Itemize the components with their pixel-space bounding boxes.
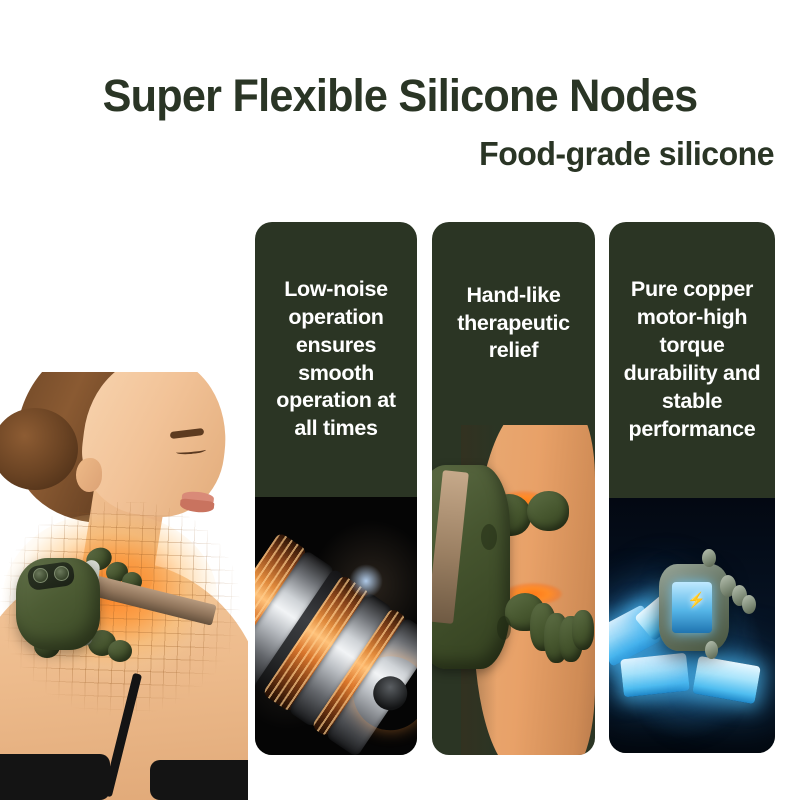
product-feature-graphic: Super Flexible Silicone Nodes Food-grade…	[0, 0, 800, 800]
massager-node-ring-1	[481, 524, 497, 550]
feature-card-pure-copper: Pure copper motor-high torque durability…	[609, 222, 775, 753]
motor-shaft	[255, 532, 417, 755]
feature-card-low-noise: Low-noise operation ensures smooth opera…	[255, 222, 417, 755]
feature-card-2-text: Hand-like therapeutic relief	[432, 222, 595, 425]
feature-card-1-text: Low-noise operation ensures smooth opera…	[255, 222, 417, 497]
feature-card-hand-like: Hand-like therapeutic relief	[432, 222, 595, 755]
tech-device-node-3	[742, 595, 756, 614]
tech-device-node-top	[702, 549, 716, 567]
tech-device-battery-window: ⚡	[672, 582, 712, 633]
massager-finger-node-top	[527, 491, 569, 531]
motor-rotor-hub	[367, 670, 414, 717]
hero-garment-right	[150, 760, 248, 800]
feature-card-3-text: Pure copper motor-high torque durability…	[609, 222, 775, 498]
lightning-bolt-icon: ⚡	[687, 593, 706, 608]
motor-highlight-glint	[349, 564, 383, 598]
feature-card-1-photo	[255, 497, 417, 755]
massager-finger-4	[572, 610, 594, 650]
page-title: Super Flexible Silicone Nodes	[16, 72, 784, 119]
page-subtitle: Food-grade silicone	[479, 136, 774, 172]
feature-card-2-photo	[432, 425, 595, 755]
hero-lifestyle-photo	[0, 372, 248, 800]
motor-assembly	[255, 497, 417, 755]
hero-massager-node-5	[108, 640, 132, 662]
hero-massager-mode-button	[54, 566, 69, 581]
glow-panel-center	[620, 653, 690, 698]
hero-massager-power-button	[33, 568, 48, 583]
hero-ear	[76, 458, 102, 492]
feature-card-3-photo: ⚡	[609, 498, 775, 753]
hero-garment-left	[0, 754, 110, 800]
